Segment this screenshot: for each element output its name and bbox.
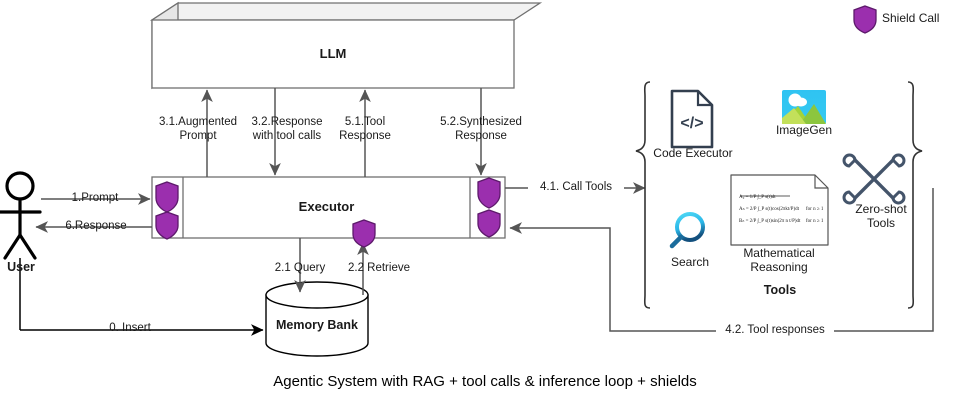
legend-label: Shield Call (882, 12, 970, 26)
svg-text:Bₙ = 2/P ∫_P s(t)sin(2π n t/P): Bₙ = 2/P ∫_P s(t)sin(2π n t/P)dt (739, 218, 801, 224)
edge-label-synthesized-response-line2: Response (424, 130, 538, 144)
edge-label-synthesized-response-line1: 5.2.Synthesized (424, 116, 538, 130)
image-photo-icon (782, 90, 826, 124)
svg-text:Aₙ = 2/P ∫_P s(t)cos(2πkt/P)dt: Aₙ = 2/P ∫_P s(t)cos(2πkt/P)dt (739, 206, 800, 212)
crossed-wrenches-icon (844, 155, 904, 203)
user-label: User (0, 261, 42, 275)
tool-label-code-executor: Code Executor (648, 147, 738, 161)
svg-text:for n ≥ 1: for n ≥ 1 (806, 207, 824, 212)
diagram-svg: </> A₀ = 1/P ∫_P s(t)dt Aₙ (0, 0, 970, 411)
diagram-canvas: </> A₀ = 1/P ∫_P s(t)dt Aₙ (0, 0, 970, 411)
diagram-caption: Agentic System with RAG + tool calls & i… (0, 375, 970, 389)
edge-label-prompt: 1.Prompt (55, 192, 135, 206)
svg-text:A₀ = 1/P ∫_P s(t)dt: A₀ = 1/P ∫_P s(t)dt (739, 194, 776, 200)
edge-label-retrieve: 2.2 Retrieve (335, 262, 423, 276)
tool-label-zeroshot-line2: Tools (841, 217, 921, 231)
edge-label-insert: 0. Insert (90, 322, 170, 336)
edge-label-call-tools: 4.1. Call Tools (528, 181, 624, 195)
edge-label-tool-response-line1: 5.1.Tool (318, 116, 412, 130)
edge-label-tool-responses: 4.2. Tool responses (716, 324, 834, 338)
formula-document-icon: A₀ = 1/P ∫_P s(t)dt Aₙ = 2/P ∫_P s(t)cos… (731, 175, 828, 245)
tools-group-label: Tools (735, 284, 825, 298)
edge-label-query: 2.1 Query (262, 262, 338, 276)
memory-bank-label: Memory Bank (266, 319, 368, 333)
code-document-icon: </> (672, 91, 712, 147)
tool-label-zeroshot-line1: Zero-shot (841, 203, 921, 217)
edge-label-tool-response-line2: Response (318, 130, 412, 144)
tool-label-imagegen: ImageGen (767, 124, 841, 138)
tool-label-math-line1: Mathematical (726, 247, 832, 261)
user-actor[interactable] (0, 173, 40, 258)
svg-text:for n ≥ 1: for n ≥ 1 (806, 219, 824, 224)
svg-text:</>: </> (680, 115, 703, 132)
tool-label-search: Search (657, 256, 723, 270)
llm-label: LLM (152, 47, 514, 61)
llm-node[interactable] (152, 3, 540, 88)
shield-icon-memory-retrieve (353, 220, 375, 247)
executor-label: Executor (183, 200, 470, 214)
tool-label-math-line2: Reasoning (726, 261, 832, 275)
edge-label-response: 6.Response (52, 220, 140, 234)
shield-icon-legend (854, 6, 876, 33)
magnifier-icon (672, 214, 703, 246)
edge-insert (20, 258, 263, 330)
